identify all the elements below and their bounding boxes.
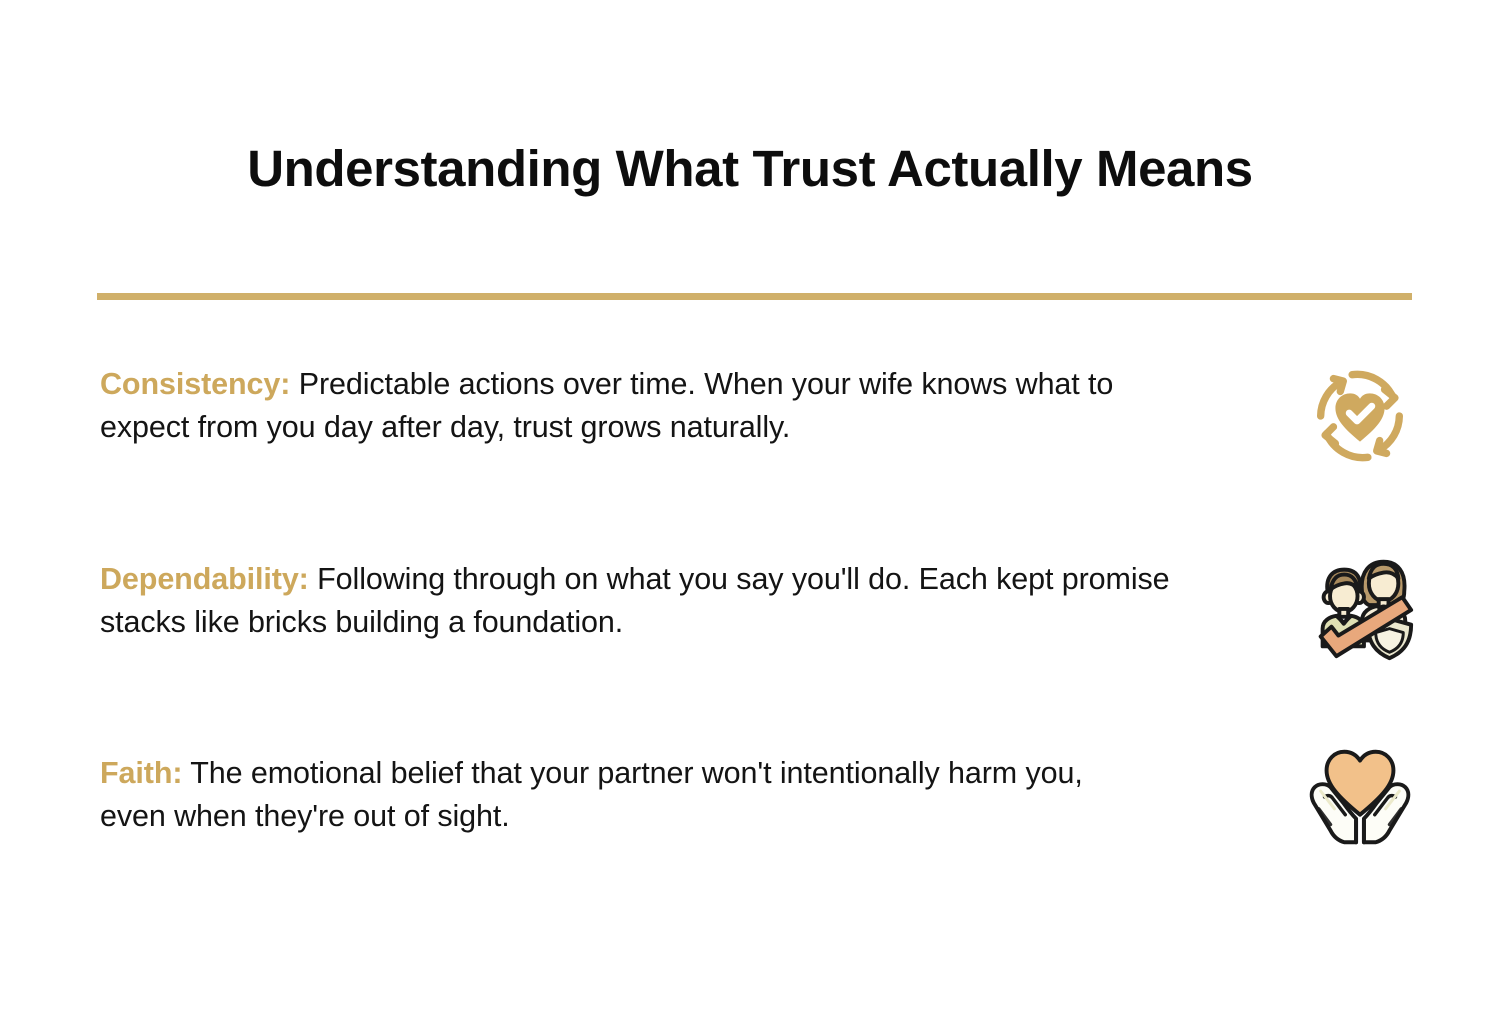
slide-canvas: Understanding What Trust Actually Means … (0, 0, 1500, 1012)
item-label: Dependability: (100, 562, 309, 596)
item-label: Consistency: (100, 367, 290, 401)
item-text: Faith: The emotional belief that your pa… (100, 752, 1100, 839)
list-item: Faith: The emotional belief that your pa… (100, 752, 1420, 858)
list-item: Dependability: Following through on what… (100, 558, 1420, 668)
gold-divider (97, 293, 1412, 300)
list-item: Consistency: Predictable actions over ti… (100, 363, 1420, 477)
heart-cycle-icon (1300, 357, 1420, 477)
item-text: Dependability: Following through on what… (100, 558, 1175, 645)
page-title-container: Understanding What Trust Actually Means (0, 140, 1500, 197)
hands-holding-heart-icon (1300, 738, 1420, 858)
family-check-shield-icon (1300, 548, 1420, 668)
item-body: The emotional belief that your partner w… (100, 756, 1083, 833)
item-text: Consistency: Predictable actions over ti… (100, 363, 1190, 450)
page-title: Understanding What Trust Actually Means (0, 140, 1500, 197)
item-label: Faith: (100, 756, 182, 790)
